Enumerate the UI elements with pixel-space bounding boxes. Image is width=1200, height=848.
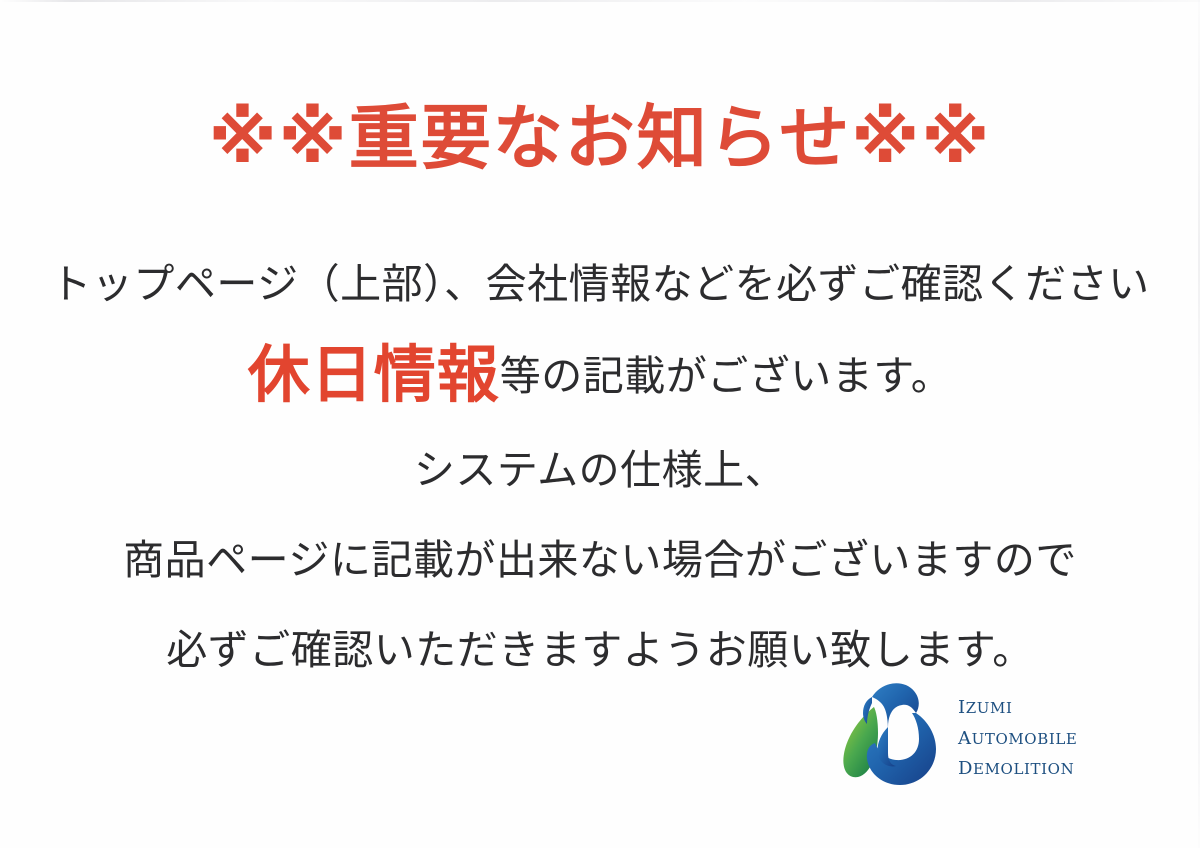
logo-name-line-3: Demolition [958,751,1077,782]
page-title: ※※重要なお知らせ※※ [0,102,1200,176]
notice-body: トップページ（上部）、会社情報などを必ずご確認ください 休日情報等の記載がござい… [0,250,1200,676]
notice-line-5: 必ずご確認いただきますようお願い致します。 [0,616,1200,676]
company-logo: Izumi Automobile Demolition [836,672,1120,792]
scan-edge-top [0,0,1200,2]
logo-wordmark: Izumi Automobile Demolition [958,682,1077,782]
notice-line-1: トップページ（上部）、会社情報などを必ずご確認ください [0,250,1200,310]
notice-line-2-rest: 等の記載がございます。 [500,352,952,400]
holiday-info-emphasis: 休日情報 [248,338,500,411]
logo-name-line-2: Automobile [958,721,1077,752]
notice-line-3: システムの仕様上、 [0,436,1200,496]
notice-line-2: 休日情報等の記載がございます。 [0,344,1200,406]
notice-line-4: 商品ページに記載が出来ない場合がございますので [0,526,1200,586]
izumi-swirl-leaf-icon [836,673,948,791]
logo-name-line-1: Izumi [958,690,1077,721]
notice-document: ※※重要なお知らせ※※ トップページ（上部）、会社情報などを必ずご確認ください … [0,0,1200,848]
